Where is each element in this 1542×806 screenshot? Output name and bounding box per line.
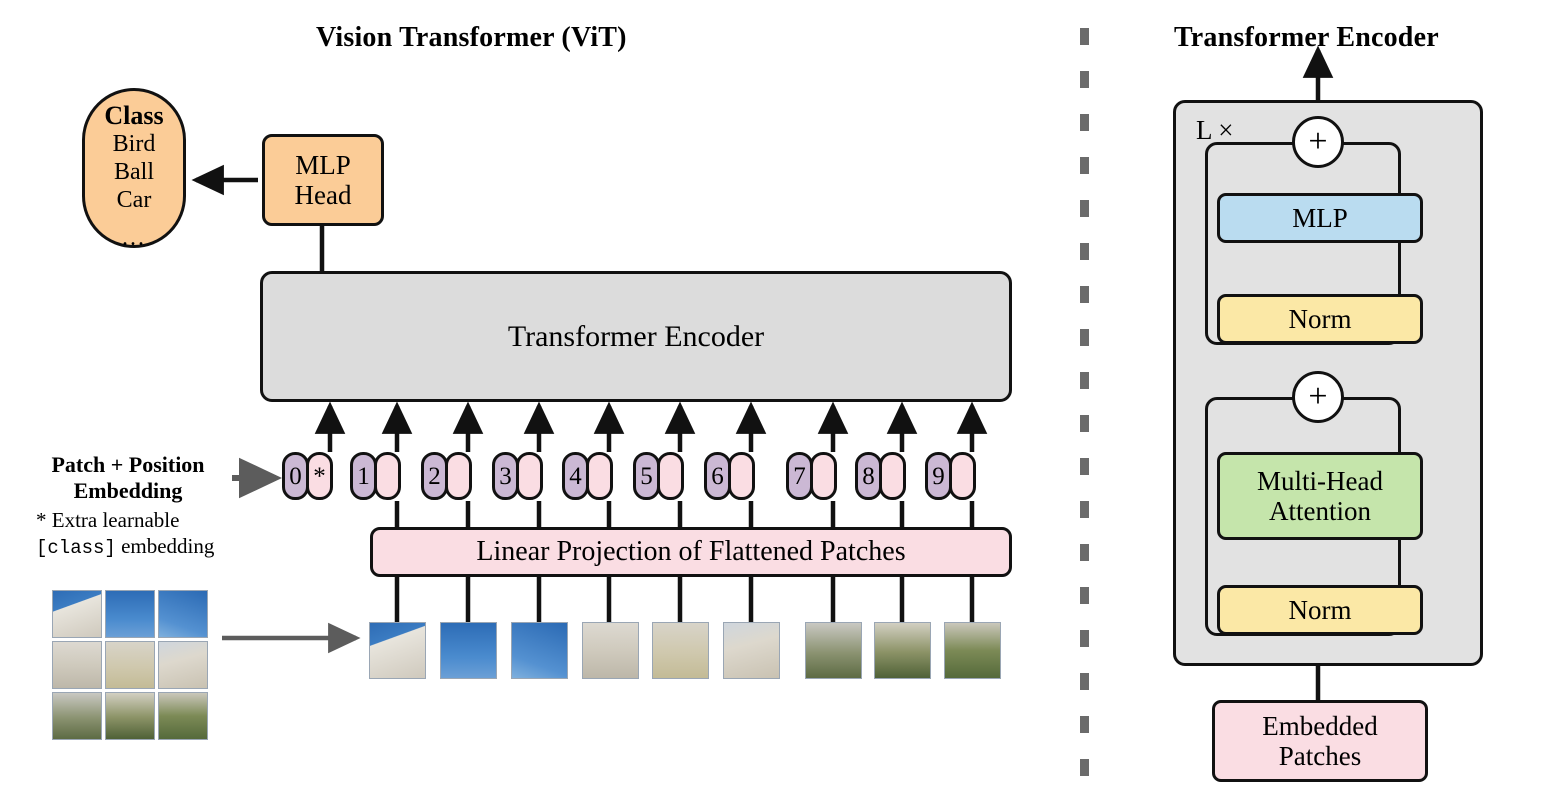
token-6: 6	[704, 452, 755, 500]
source-patch-5	[105, 641, 155, 689]
transformer-encoder-bar: Transformer Encoder	[260, 271, 1012, 402]
source-patch-8	[105, 692, 155, 740]
multi-head-attention-line1: Multi-Head	[1257, 466, 1383, 496]
norm-block-top: Norm	[1217, 294, 1423, 344]
patch-embedding-9	[949, 452, 976, 500]
source-patch-1	[52, 590, 102, 638]
patch-embedding-7	[810, 452, 837, 500]
patch-embedding-1	[374, 452, 401, 500]
class-item: Ball	[114, 159, 154, 187]
patch-embedding-3	[516, 452, 543, 500]
panel-divider	[1080, 28, 1089, 780]
mlp-block-label: MLP	[1292, 203, 1348, 233]
patch-embedding-2	[445, 452, 472, 500]
patch-embedding-5	[657, 452, 684, 500]
token-0: 0 *	[282, 452, 333, 500]
token-9: 9	[925, 452, 976, 500]
patch-position-embedding-label: Patch + Position Embedding	[28, 452, 228, 504]
source-image-grid	[52, 590, 210, 742]
flattened-patch-8	[874, 622, 931, 679]
class-output-box: Class Bird Ball Car ...	[82, 88, 186, 248]
flattened-patch-7	[805, 622, 862, 679]
residual-add-bottom: +	[1292, 371, 1344, 423]
linear-projection-bar: Linear Projection of Flattened Patches	[370, 527, 1012, 577]
token-3: 3	[492, 452, 543, 500]
flattened-patch-5	[652, 622, 709, 679]
token-8: 8	[855, 452, 906, 500]
footnote-code-token: [class]	[36, 537, 116, 559]
embedding-label-line1: Patch + Position	[28, 452, 228, 478]
extra-learnable-footnote: * Extra learnable [class] embedding	[36, 508, 276, 560]
token-4: 4	[562, 452, 613, 500]
position-embedding-3: 3	[492, 452, 519, 500]
source-patch-7	[52, 692, 102, 740]
embedding-label-line2: Embedding	[28, 478, 228, 504]
class-heading: Class	[104, 101, 163, 131]
left-panel-title: Vision Transformer (ViT)	[316, 22, 627, 54]
class-ellipsis: ...	[122, 225, 146, 253]
mlp-head-box: MLP Head	[262, 134, 384, 226]
class-item: Bird	[113, 131, 156, 159]
flattened-patch-3	[511, 622, 568, 679]
flattened-patch-4	[582, 622, 639, 679]
transformer-encoder-bar-label: Transformer Encoder	[508, 320, 764, 354]
vit-architecture-diagram: Vision Transformer (ViT) Class Bird Ball…	[0, 0, 1542, 806]
source-patch-2	[105, 590, 155, 638]
plus-symbol: +	[1308, 380, 1327, 414]
position-embedding-2: 2	[421, 452, 448, 500]
token-1: 1	[350, 452, 401, 500]
source-patch-3	[158, 590, 208, 638]
flattened-patch-1	[369, 622, 426, 679]
patch-embedding-6	[728, 452, 755, 500]
class-token-asterisk: *	[306, 452, 333, 500]
residual-add-top: +	[1292, 116, 1344, 168]
linear-projection-label: Linear Projection of Flattened Patches	[476, 536, 905, 567]
norm-bottom-label: Norm	[1289, 595, 1352, 625]
position-embedding-7: 7	[786, 452, 813, 500]
right-panel-title: Transformer Encoder	[1174, 22, 1439, 54]
source-patch-4	[52, 641, 102, 689]
position-embedding-1: 1	[350, 452, 377, 500]
multi-head-attention-block: Multi-Head Attention	[1217, 452, 1423, 540]
position-embedding-8: 8	[855, 452, 882, 500]
flattened-patch-9	[944, 622, 1001, 679]
position-embedding-9: 9	[925, 452, 952, 500]
source-patch-6	[158, 641, 208, 689]
patch-embedding-8	[879, 452, 906, 500]
token-5: 5	[633, 452, 684, 500]
token-7: 7	[786, 452, 837, 500]
norm-block-bottom: Norm	[1217, 585, 1423, 635]
embedded-patches-line1: Embedded	[1262, 711, 1377, 741]
norm-top-label: Norm	[1289, 304, 1352, 334]
position-embedding-6: 6	[704, 452, 731, 500]
class-item: Car	[117, 187, 152, 215]
flattened-patch-6	[723, 622, 780, 679]
footnote-line2-rest: embedding	[116, 534, 215, 558]
position-embedding-5: 5	[633, 452, 660, 500]
embedded-patches-line2: Patches	[1279, 741, 1361, 771]
mlp-head-label-line2: Head	[295, 180, 352, 210]
flattened-patch-2	[440, 622, 497, 679]
embedded-patches-block: Embedded Patches	[1212, 700, 1428, 782]
token-2: 2	[421, 452, 472, 500]
patch-embedding-4	[586, 452, 613, 500]
multi-head-attention-line2: Attention	[1269, 496, 1371, 526]
plus-symbol: +	[1308, 125, 1327, 159]
footnote-line1: * Extra learnable	[36, 508, 276, 534]
position-embedding-4: 4	[562, 452, 589, 500]
mlp-head-label-line1: MLP	[295, 150, 351, 180]
source-patch-9	[158, 692, 208, 740]
position-embedding-0: 0	[282, 452, 309, 500]
mlp-block: MLP	[1217, 193, 1423, 243]
